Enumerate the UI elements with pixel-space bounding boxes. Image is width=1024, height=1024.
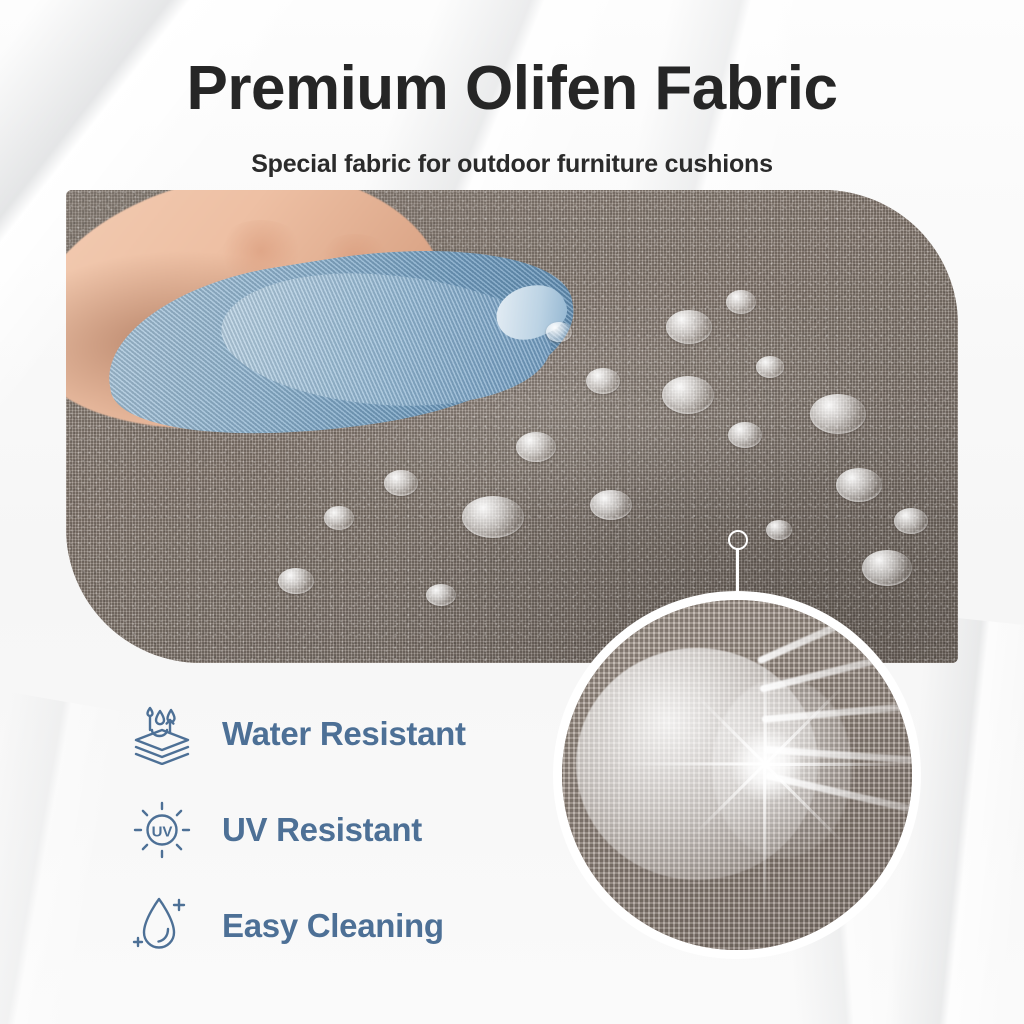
water-droplet <box>836 468 882 502</box>
feature-item-uv-resistant: UV UV Resistant <box>120 782 540 878</box>
feature-label: Easy Cleaning <box>222 907 444 945</box>
light-flare-ray <box>765 763 915 766</box>
feature-item-easy-cleaning: Easy Cleaning <box>120 878 540 974</box>
magnifier-pin-ring <box>728 530 748 550</box>
light-flare-ray <box>615 763 765 766</box>
water-droplet <box>766 520 792 540</box>
water-droplet <box>426 584 456 606</box>
infographic-canvas: Premium Olifen Fabric Special fabric for… <box>0 0 1024 1024</box>
water-droplet <box>662 376 714 414</box>
water-droplet <box>278 568 314 594</box>
light-flare-ray <box>764 634 767 764</box>
fabric-wipe-photo <box>66 190 958 663</box>
water-droplet <box>546 322 572 342</box>
water-drop-layers-icon <box>120 703 204 765</box>
water-droplet <box>862 550 912 586</box>
water-droplet <box>384 470 418 496</box>
magnified-detail-circle <box>553 591 921 959</box>
light-flare-ray <box>764 764 767 914</box>
water-droplet <box>894 508 928 534</box>
water-droplet <box>810 394 866 434</box>
water-droplet <box>728 422 762 448</box>
uv-sun-icon: UV <box>120 799 204 861</box>
water-droplet <box>666 310 712 344</box>
water-droplet <box>590 490 632 520</box>
page-title: Premium Olifen Fabric <box>0 56 1024 121</box>
water-droplet <box>756 356 784 378</box>
droplet-sparkle-icon <box>120 893 204 959</box>
feature-label: UV Resistant <box>222 811 422 849</box>
water-droplet <box>726 290 756 314</box>
water-droplet <box>462 496 524 538</box>
page-subtitle: Special fabric for outdoor furniture cus… <box>0 150 1024 179</box>
feature-item-water-resistant: Water Resistant <box>120 686 540 782</box>
water-droplet <box>324 506 354 530</box>
feature-label: Water Resistant <box>222 715 466 753</box>
water-droplet <box>586 368 620 394</box>
uv-icon-text: UV <box>152 824 173 841</box>
water-droplet <box>516 432 556 462</box>
feature-list: Water Resistant UV UV Resistant <box>120 686 540 974</box>
